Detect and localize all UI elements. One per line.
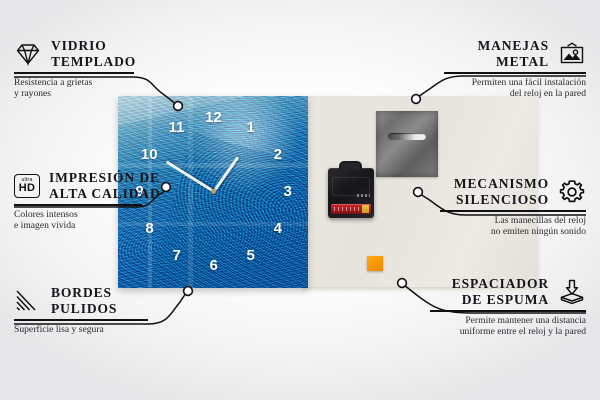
hanger-slot <box>388 133 426 140</box>
feature-title-line1: MANEJAS <box>477 38 549 54</box>
clock-numeral-2: 2 <box>274 147 282 162</box>
feature-divider <box>14 204 142 206</box>
feature-divider <box>440 210 586 212</box>
feature-desc-line1: Permiten una fácil instalación <box>444 77 586 89</box>
gear-icon <box>558 179 586 205</box>
clock-numeral-5: 5 <box>247 248 255 263</box>
feature-title-line2: PULIDOS <box>51 301 117 317</box>
ultra-hd-icon-large-text: HD <box>19 183 36 194</box>
arrow-down-onto-pad-icon <box>558 279 586 305</box>
feature-desc-line2: y rayones <box>14 88 134 100</box>
clock-numeral-3: 3 <box>284 184 292 199</box>
clock-numeral-12: 12 <box>205 110 222 125</box>
ultra-hd-icon: ultra HD <box>14 174 40 198</box>
feature-divider <box>444 72 586 74</box>
feature-desc-line1: Resistencia a grietas <box>14 77 134 89</box>
feature-mecanismo-silencioso: MECANISMO SILENCIOSO Las manecillas del … <box>440 176 586 238</box>
clock-movement <box>328 168 374 218</box>
feature-title-line2: METAL <box>477 54 549 70</box>
feature-vidrio-templado: VIDRIO TEMPLADO Resistencia a grietas y … <box>14 38 134 100</box>
metal-hanger-plate <box>376 111 438 177</box>
picture-frame-hanger-icon <box>558 42 586 66</box>
feature-desc-line1: Permite mantener una distancia <box>430 315 586 327</box>
battery-stripes <box>334 207 360 211</box>
clock-numeral-4: 4 <box>274 221 282 236</box>
feature-divider <box>14 319 148 321</box>
feature-title-line2: ALTA CALIDAD <box>49 186 161 202</box>
feature-title-line2: SILENCIOSO <box>454 192 549 208</box>
feature-divider <box>14 72 134 74</box>
feature-desc-line2: e imagen vívida <box>14 220 142 232</box>
feature-title-line1: ESPACIADOR <box>452 276 549 292</box>
diamond-icon <box>14 42 42 66</box>
feature-desc-line2: no emiten ningún sonido <box>440 226 586 238</box>
diagonal-stripes-icon <box>14 289 42 313</box>
feature-manejas-metal: MANEJAS METAL Permiten una fácil instala… <box>444 38 586 100</box>
feature-title-line2: TEMPLADO <box>51 54 136 70</box>
infographic-canvas: 12 1 2 3 4 5 6 7 8 9 10 11 <box>0 0 600 400</box>
feature-bordes-pulidos: BORDES PULIDOS Superficie lisa y segura <box>14 285 148 335</box>
clock-numeral-10: 10 <box>141 147 158 162</box>
feature-espaciador-de-espuma: ESPACIADOR DE ESPUMA Permite mantener un… <box>430 276 586 338</box>
clock-center-hub <box>211 189 216 194</box>
movement-hanging-tab <box>339 161 362 170</box>
feature-desc-line1: Colores intensos <box>14 209 142 221</box>
movement-label <box>357 194 370 197</box>
feature-title-line1: BORDES <box>51 285 117 301</box>
clock-numeral-8: 8 <box>145 221 153 236</box>
feature-title-line1: VIDRIO <box>51 38 136 54</box>
foam-spacer <box>367 256 383 271</box>
aa-battery <box>331 204 371 214</box>
feature-impresion-alta-calidad: ultra HD IMPRESIÓN DE ALTA CALIDAD Color… <box>14 170 142 232</box>
feature-title-line2: DE ESPUMA <box>452 292 549 308</box>
feature-desc-line2: uniforme entre el reloj y la pared <box>430 326 586 338</box>
clock-numeral-1: 1 <box>247 120 255 135</box>
feature-desc-line1: Las manecillas del reloj <box>440 215 586 227</box>
clock-numeral-11: 11 <box>169 120 185 135</box>
clock-numeral-6: 6 <box>210 258 218 273</box>
feature-divider <box>430 310 586 312</box>
clock-numeral-7: 7 <box>173 248 181 263</box>
feature-desc-line2: del reloj en la pared <box>444 88 586 100</box>
feature-desc-line1: Superficie lisa y segura <box>14 324 148 336</box>
feature-title-line1: MECANISMO <box>454 176 549 192</box>
feature-title-line1: IMPRESIÓN DE <box>49 170 161 186</box>
